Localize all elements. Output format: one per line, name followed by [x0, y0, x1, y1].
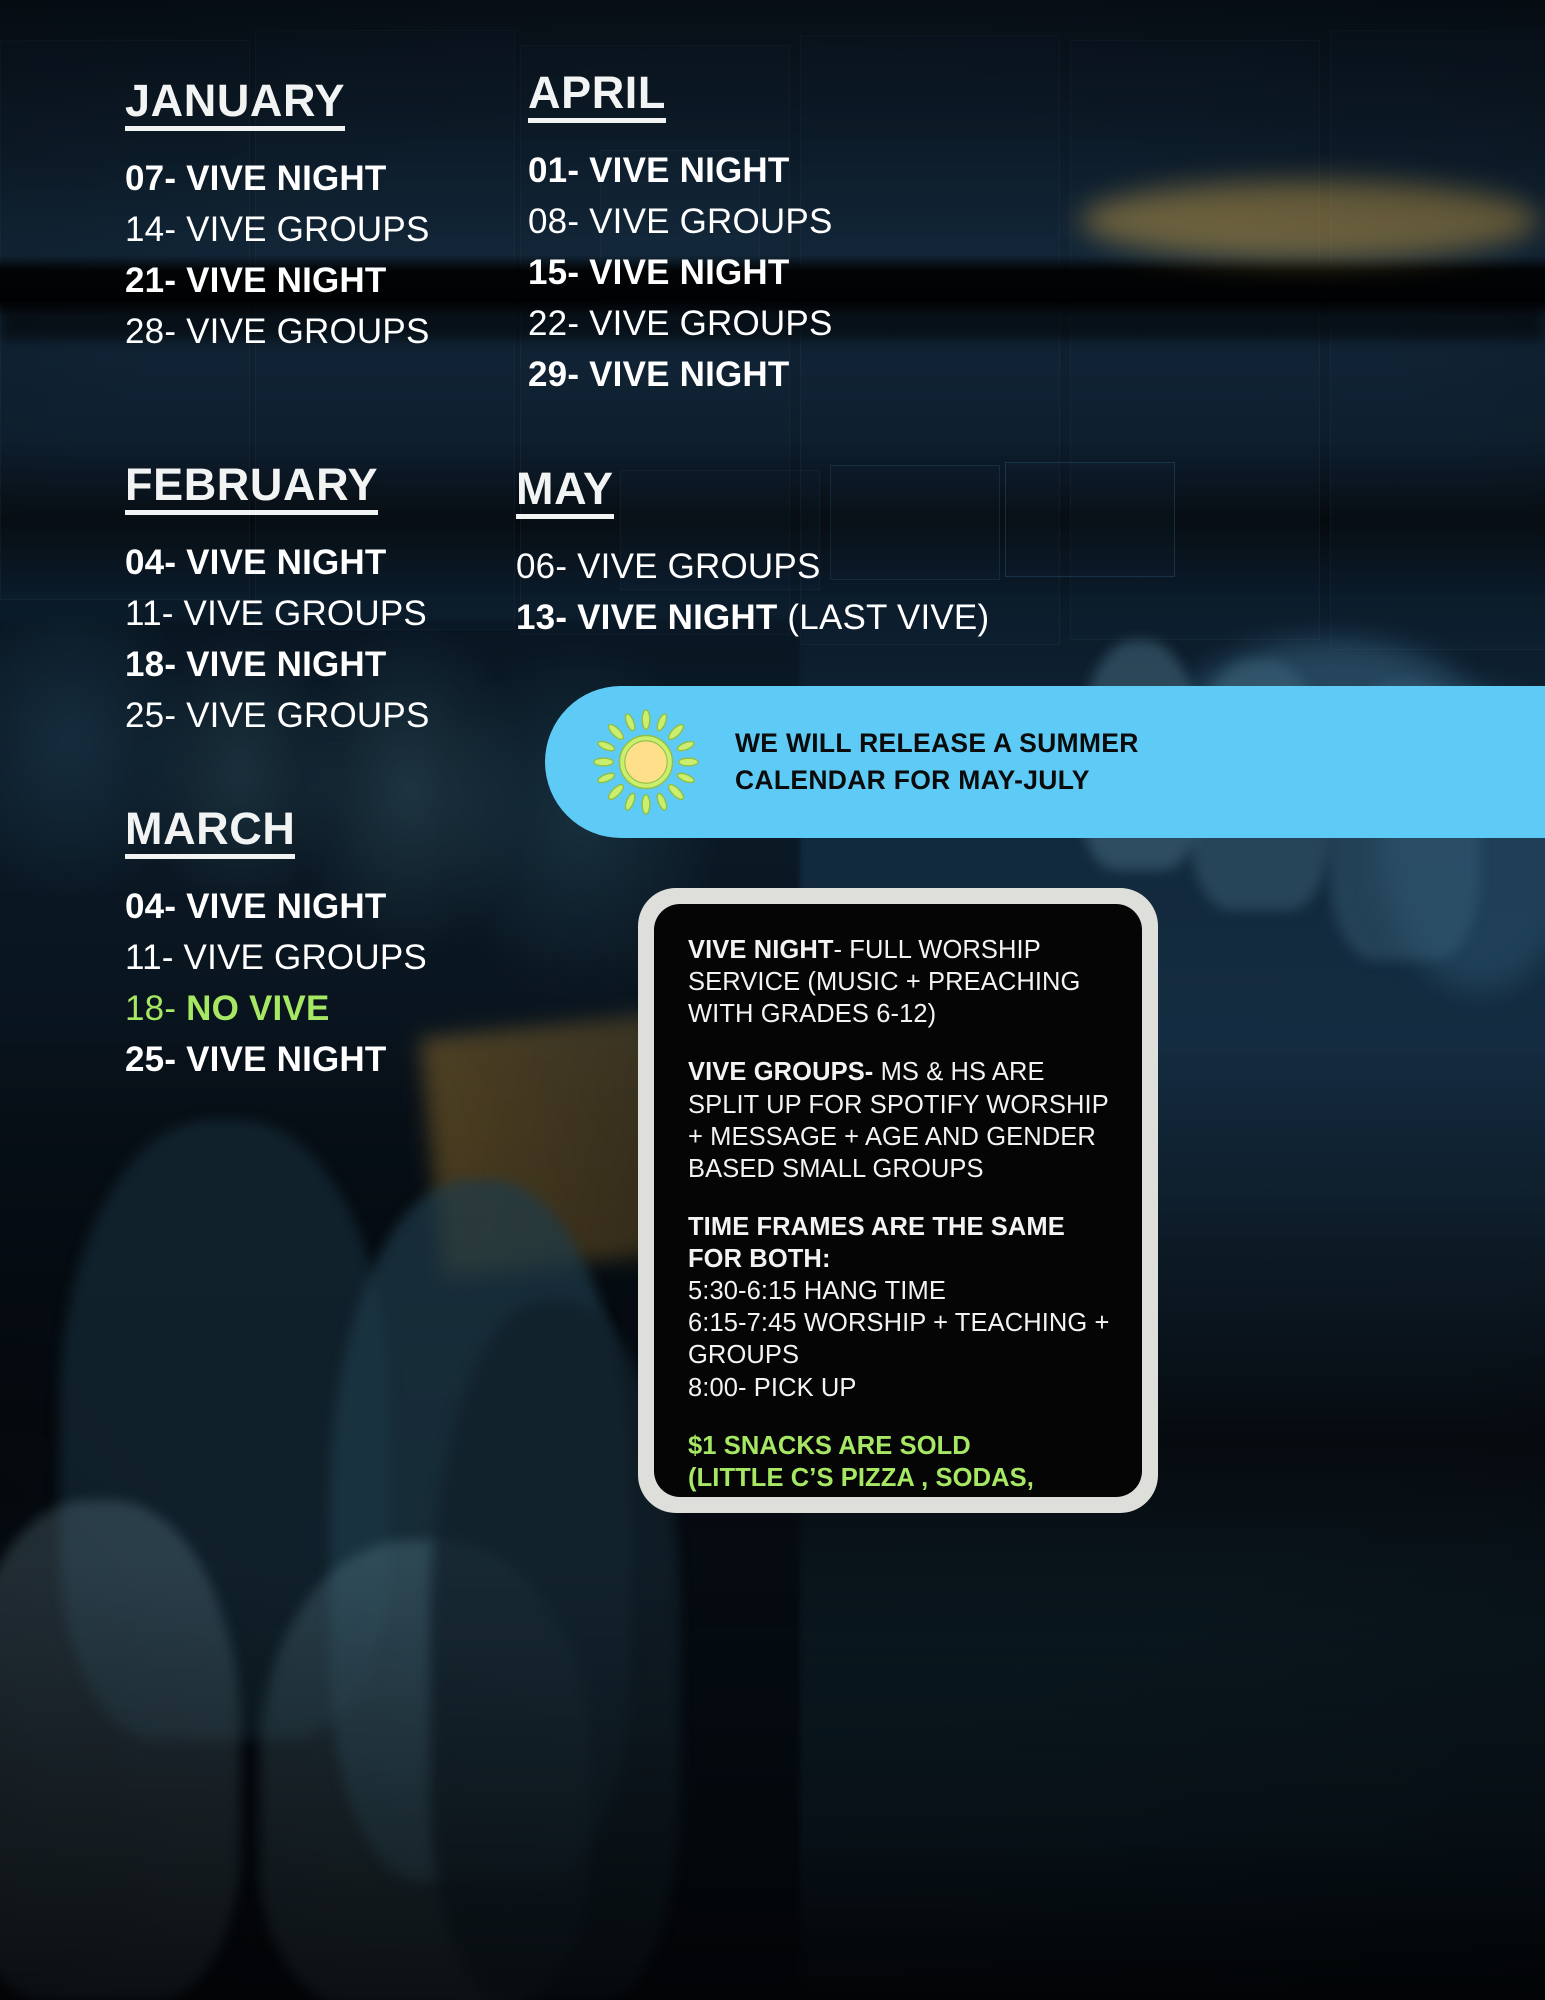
- month-date-list: 06- VIVE GROUPS 13- VIVE NIGHT (LAST VIV…: [516, 541, 989, 643]
- date-row: 15- VIVE NIGHT: [528, 247, 833, 298]
- sun-icon: [593, 709, 699, 815]
- info-snacks-line1: $1 SNACKS ARE SOLD: [688, 1430, 1116, 1462]
- summer-banner-line2: CALENDAR FOR MAY-JULY: [735, 762, 1139, 799]
- info-time-line-1: 5:30-6:15 HANG TIME: [688, 1275, 1116, 1307]
- info-vive-night-term: VIVE NIGHT: [688, 936, 834, 964]
- date-number: 11-: [125, 594, 174, 633]
- date-row: 28- VIVE GROUPS: [125, 306, 430, 357]
- month-block-may: MAY 06- VIVE GROUPS 13- VIVE NIGHT (LAST…: [516, 466, 989, 643]
- date-row: 21- VIVE NIGHT: [125, 255, 430, 306]
- info-vive-night: VIVE NIGHT- FULL WORSHIP SERVICE (MUSIC …: [688, 934, 1116, 1030]
- date-number: 14-: [125, 210, 176, 249]
- info-card: VIVE NIGHT- FULL WORSHIP SERVICE (MUSIC …: [638, 888, 1158, 1513]
- month-title: MAY: [516, 466, 614, 519]
- date-number: 18-: [125, 645, 176, 684]
- date-label: VIVE GROUPS: [184, 938, 427, 977]
- date-label: NO VIVE: [186, 989, 329, 1028]
- date-label: VIVE GROUPS: [577, 547, 820, 586]
- date-number: 04-: [125, 543, 176, 582]
- info-time-line-3: 8:00- PICK UP: [688, 1372, 1116, 1404]
- date-number: 28-: [125, 312, 176, 351]
- date-label: VIVE NIGHT: [589, 253, 789, 292]
- date-label: VIVE NIGHT: [589, 355, 789, 394]
- date-row: 13- VIVE NIGHT (LAST VIVE): [516, 592, 989, 643]
- date-row-no-vive: 18- NO VIVE: [125, 983, 427, 1034]
- info-card-body: VIVE NIGHT- FULL WORSHIP SERVICE (MUSIC …: [654, 904, 1142, 1497]
- month-title: APRIL: [528, 70, 666, 123]
- month-block-january: JANUARY 07- VIVE NIGHT 14- VIVE GROUPS 2…: [125, 78, 430, 357]
- date-row: 11- VIVE GROUPS: [125, 588, 430, 639]
- date-row: 25- VIVE NIGHT: [125, 1034, 427, 1085]
- month-block-february: FEBRUARY 04- VIVE NIGHT 11- VIVE GROUPS …: [125, 462, 430, 741]
- month-block-april: APRIL 01- VIVE NIGHT 08- VIVE GROUPS 15-…: [528, 70, 833, 400]
- date-number: 08-: [528, 202, 579, 241]
- date-label: VIVE NIGHT: [186, 159, 386, 198]
- date-label: VIVE GROUPS: [186, 312, 429, 351]
- date-number: 01-: [528, 151, 579, 190]
- month-title: FEBRUARY: [125, 462, 378, 515]
- info-time-frames: TIME FRAMES ARE THE SAME FOR BOTH:: [688, 1211, 1116, 1275]
- month-date-list: 07- VIVE NIGHT 14- VIVE GROUPS 21- VIVE …: [125, 153, 430, 357]
- date-row: 29- VIVE NIGHT: [528, 349, 833, 400]
- date-row: 07- VIVE NIGHT: [125, 153, 430, 204]
- date-number: 22-: [528, 304, 579, 343]
- date-label: VIVE NIGHT: [577, 598, 777, 637]
- month-title: MARCH: [125, 806, 295, 859]
- date-row: 08- VIVE GROUPS: [528, 196, 833, 247]
- date-row: 22- VIVE GROUPS: [528, 298, 833, 349]
- date-label: VIVE NIGHT: [186, 645, 386, 684]
- date-row: 01- VIVE NIGHT: [528, 145, 833, 196]
- info-vive-groups: VIVE GROUPS- MS & HS ARE SPLIT UP FOR SP…: [688, 1056, 1116, 1185]
- info-snacks-line2: (LITTLE C’S PIZZA , SODAS, CANDY): [688, 1462, 1116, 1497]
- date-number: 29-: [528, 355, 579, 394]
- date-label: VIVE GROUPS: [589, 202, 832, 241]
- info-time-frames-heading: TIME FRAMES ARE THE SAME FOR BOTH:: [688, 1213, 1065, 1273]
- month-title: JANUARY: [125, 78, 345, 131]
- date-number: 13-: [516, 598, 567, 637]
- month-block-march: MARCH 04- VIVE NIGHT 11- VIVE GROUPS 18-…: [125, 806, 427, 1085]
- summer-calendar-banner: WE WILL RELEASE A SUMMER CALENDAR FOR MA…: [545, 686, 1545, 838]
- info-time-line-2: 6:15-7:45 WORSHIP + TEACHING + GROUPS: [688, 1307, 1116, 1371]
- date-number: 21-: [125, 261, 176, 300]
- date-row: 18- VIVE NIGHT: [125, 639, 430, 690]
- month-date-list: 04- VIVE NIGHT 11- VIVE GROUPS 18- VIVE …: [125, 537, 430, 741]
- date-number: 11-: [125, 938, 174, 977]
- date-label: VIVE NIGHT: [186, 543, 386, 582]
- date-number: 04-: [125, 887, 176, 926]
- date-number: 06-: [516, 547, 567, 586]
- date-label: VIVE NIGHT: [186, 1040, 386, 1079]
- date-label: VIVE GROUPS: [186, 696, 429, 735]
- summer-banner-line1: WE WILL RELEASE A SUMMER: [735, 725, 1139, 762]
- date-number: 07-: [125, 159, 176, 198]
- date-label: VIVE NIGHT: [186, 887, 386, 926]
- date-label: VIVE NIGHT: [589, 151, 789, 190]
- month-date-list: 04- VIVE NIGHT 11- VIVE GROUPS 18- NO VI…: [125, 881, 427, 1085]
- summer-banner-text: WE WILL RELEASE A SUMMER CALENDAR FOR MA…: [735, 725, 1139, 798]
- date-number: 25-: [125, 696, 176, 735]
- date-row: 04- VIVE NIGHT: [125, 881, 427, 932]
- date-row: 06- VIVE GROUPS: [516, 541, 989, 592]
- date-label: VIVE GROUPS: [186, 210, 429, 249]
- spacer: [688, 1404, 1116, 1430]
- date-number: 18-: [125, 989, 176, 1028]
- date-number: 25-: [125, 1040, 176, 1079]
- date-row: 14- VIVE GROUPS: [125, 204, 430, 255]
- date-label: VIVE GROUPS: [184, 594, 427, 633]
- date-label: VIVE NIGHT: [186, 261, 386, 300]
- date-label: VIVE GROUPS: [589, 304, 832, 343]
- date-row: 25- VIVE GROUPS: [125, 690, 430, 741]
- date-row: 11- VIVE GROUPS: [125, 932, 427, 983]
- date-suffix: (LAST VIVE): [778, 598, 990, 637]
- info-vive-groups-term: VIVE GROUPS-: [688, 1058, 873, 1086]
- date-number: 15-: [528, 253, 579, 292]
- date-row: 04- VIVE NIGHT: [125, 537, 430, 588]
- month-date-list: 01- VIVE NIGHT 08- VIVE GROUPS 15- VIVE …: [528, 145, 833, 400]
